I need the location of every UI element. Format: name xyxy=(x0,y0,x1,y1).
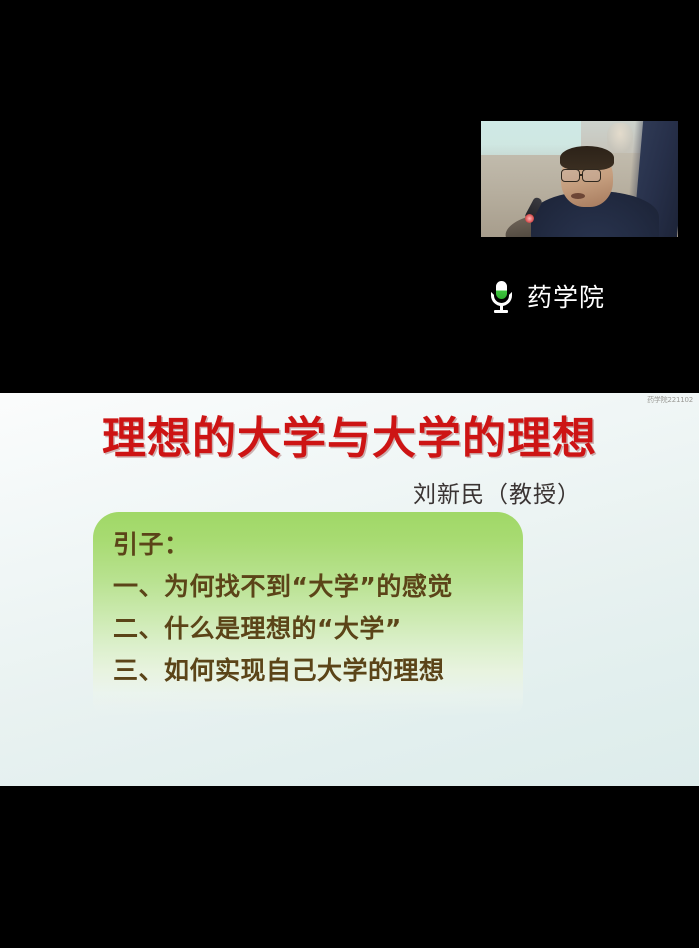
video-speaker-glasses-right xyxy=(582,169,601,182)
participant-name-strip: 药学院 xyxy=(489,281,605,313)
microphone-base xyxy=(494,310,508,313)
video-microphone-light xyxy=(525,214,534,223)
slide-author-label: 刘新民（教授） xyxy=(413,475,581,509)
screen-root: 药学院 药学院221102 理想的大学与大学的理想 刘新民（教授） 引子：一、为… xyxy=(0,0,699,948)
bottom-letterbox xyxy=(0,786,699,948)
agenda-item: 三、如何实现自己大学的理想 xyxy=(113,650,513,692)
video-projected-figure xyxy=(607,123,633,153)
agenda-panel: 引子：一、为何找不到“大学”的感觉二、什么是理想的“大学”三、如何实现自己大学的… xyxy=(93,512,523,716)
slide-title: 理想的大学与大学的理想 xyxy=(0,415,699,463)
slide-watermark: 药学院221102 xyxy=(647,395,693,405)
participant-name-label: 药学院 xyxy=(527,285,605,310)
agenda-list: 引子：一、为何找不到“大学”的感觉二、什么是理想的“大学”三、如何实现自己大学的… xyxy=(113,524,513,692)
video-call-region: 药学院 xyxy=(0,0,699,393)
presentation-slide[interactable]: 药学院221102 理想的大学与大学的理想 刘新民（教授） 引子：一、为何找不到… xyxy=(0,393,699,786)
microphone-icon[interactable] xyxy=(489,281,513,313)
agenda-lead-label: 引子： xyxy=(113,524,513,566)
video-speaker-glasses-bridge xyxy=(579,174,583,176)
agenda-item: 一、为何找不到“大学”的感觉 xyxy=(113,566,513,608)
agenda-item: 二、什么是理想的“大学” xyxy=(113,608,513,650)
video-speaker-glasses-left xyxy=(561,169,580,182)
microphone-arc xyxy=(491,292,512,306)
video-speaker-mouth xyxy=(571,193,585,199)
video-speaker-hair xyxy=(560,146,614,170)
presenter-video-tile[interactable] xyxy=(481,121,678,237)
